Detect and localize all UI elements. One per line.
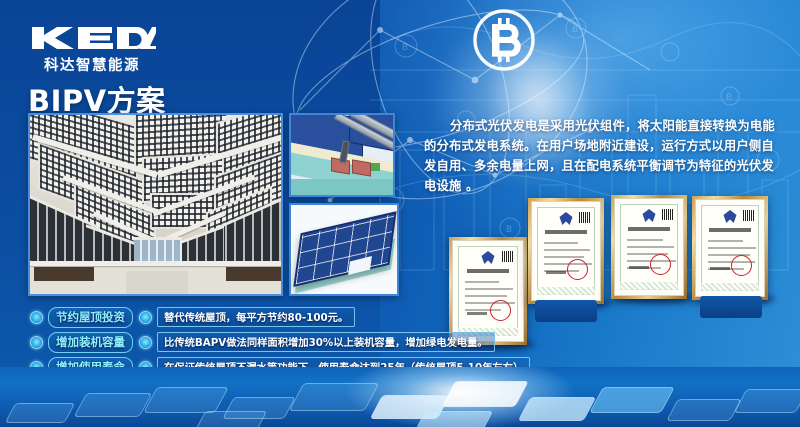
keda-wordmark-icon <box>28 24 156 52</box>
photo-atrium-skylight <box>28 113 283 296</box>
bullet-dot-icon <box>30 311 43 324</box>
bipv-poster: BBB BB 科达智慧能源 <box>0 0 800 427</box>
benefit-text: 比传统BAPV做法同样面积增加30%以上装机容量，增加绿电发电量。 <box>157 332 495 352</box>
svg-text:B: B <box>726 93 732 103</box>
benefit-label: 增加装机容量 <box>48 332 133 353</box>
podium-4 <box>700 296 762 318</box>
list-item[interactable]: 增加装机容量 比传统BAPV做法同样面积增加30%以上装机容量，增加绿电发电量。 <box>30 333 440 351</box>
certificate-frame-1 <box>449 237 527 345</box>
certificate-frame-3 <box>611 195 687 299</box>
bullet-dot-icon <box>139 336 152 349</box>
bitcoin-icon <box>470 6 538 74</box>
photo-panel-array <box>289 203 399 296</box>
tile-floor <box>0 367 800 427</box>
brand-logo: 科达智慧能源 <box>28 24 156 75</box>
intro-paragraph: 分布式光伏发电是采用光伏组件，将太阳能直接转换为电能的分布式发电系统。在用户场地… <box>424 116 786 196</box>
bullet-dot-icon <box>139 311 152 324</box>
bullet-dot-icon <box>30 336 43 349</box>
certificate-frame-2 <box>528 198 604 304</box>
certificate-frame-4 <box>692 196 768 300</box>
benefit-label: 节约屋顶投资 <box>48 307 133 328</box>
benefit-text: 替代传统屋顶，每平方节约80-100元。 <box>157 307 355 327</box>
photo-mounting-detail <box>289 113 395 197</box>
brand-logo-cn: 科达智慧能源 <box>28 54 156 75</box>
podium-2 <box>535 300 597 322</box>
list-item[interactable]: 节约屋顶投资 替代传统屋顶，每平方节约80-100元。 <box>30 308 440 326</box>
